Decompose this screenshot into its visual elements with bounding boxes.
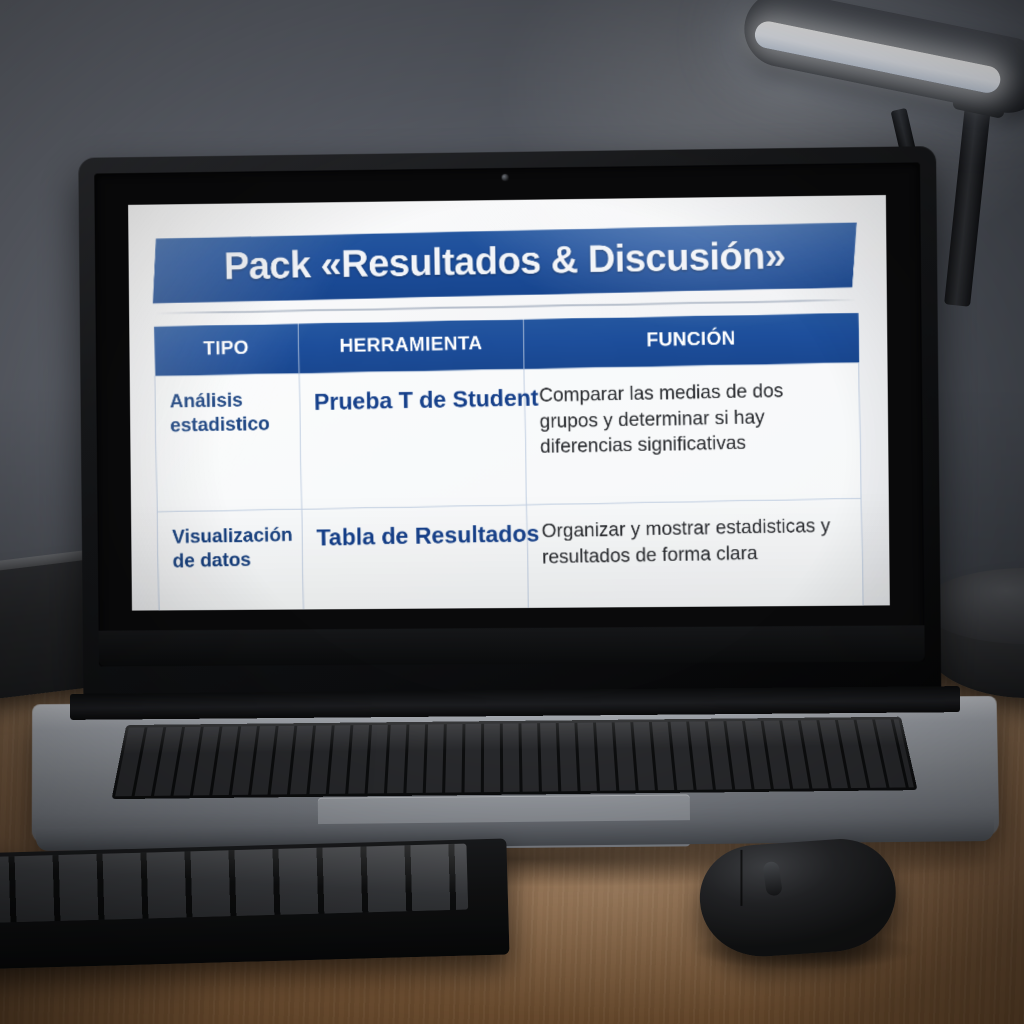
laptop-keyboard[interactable] (112, 717, 918, 799)
laptop-lid: Pack «Resultados & Discusión» (78, 146, 941, 702)
results-table-wrapper: TIPO HERRAMIENTA FUNCIÓN Análisis estadi… (153, 313, 866, 611)
cell-funcion-1: Comparar las medias de dos grupos y dete… (524, 363, 861, 505)
slide-title-banner: Pack «Resultados & Discusión» (152, 222, 858, 303)
column-header-tipo: TIPO (154, 324, 299, 377)
cell-tipo-2: Visualización de datos (157, 509, 303, 610)
screen-chin (99, 625, 925, 666)
results-table: TIPO HERRAMIENTA FUNCIÓN Análisis estadi… (153, 313, 866, 611)
screen-bezel: Pack «Resultados & Discusión» (94, 162, 925, 666)
cell-herramienta-2: Tabla de Resultados (301, 505, 528, 611)
table-row: Visualización de datos Tabla de Resultad… (157, 498, 863, 610)
cell-funcion-2: Organizar y mostrar estadisticas y resul… (527, 498, 864, 610)
mouse-scroll-wheel[interactable] (762, 861, 783, 897)
external-keyboard[interactable] (0, 838, 510, 969)
page-title: Pack «Resultados & Discusión» (170, 234, 840, 290)
laptop-screen[interactable]: Pack «Resultados & Discusión» (128, 195, 890, 611)
column-header-herramienta: HERRAMIENTA (298, 319, 524, 373)
mouse-button-split (740, 850, 742, 906)
desk-scene-photo: Pack «Resultados & Discusión» (0, 0, 1024, 1024)
external-keyboard-gloss (0, 844, 468, 924)
cell-herramienta-1: Prueba T de Student (299, 369, 527, 509)
table-row: Análisis estadistico Prueba T de Student… (155, 363, 862, 512)
column-header-funcion: FUNCIÓN (523, 313, 859, 369)
laptop-keys-gloss (112, 717, 918, 799)
webcam-icon (501, 174, 508, 181)
slide-content: Pack «Resultados & Discusión» (128, 195, 890, 611)
cell-tipo-1: Análisis estadistico (155, 374, 302, 512)
title-divider (155, 299, 856, 315)
